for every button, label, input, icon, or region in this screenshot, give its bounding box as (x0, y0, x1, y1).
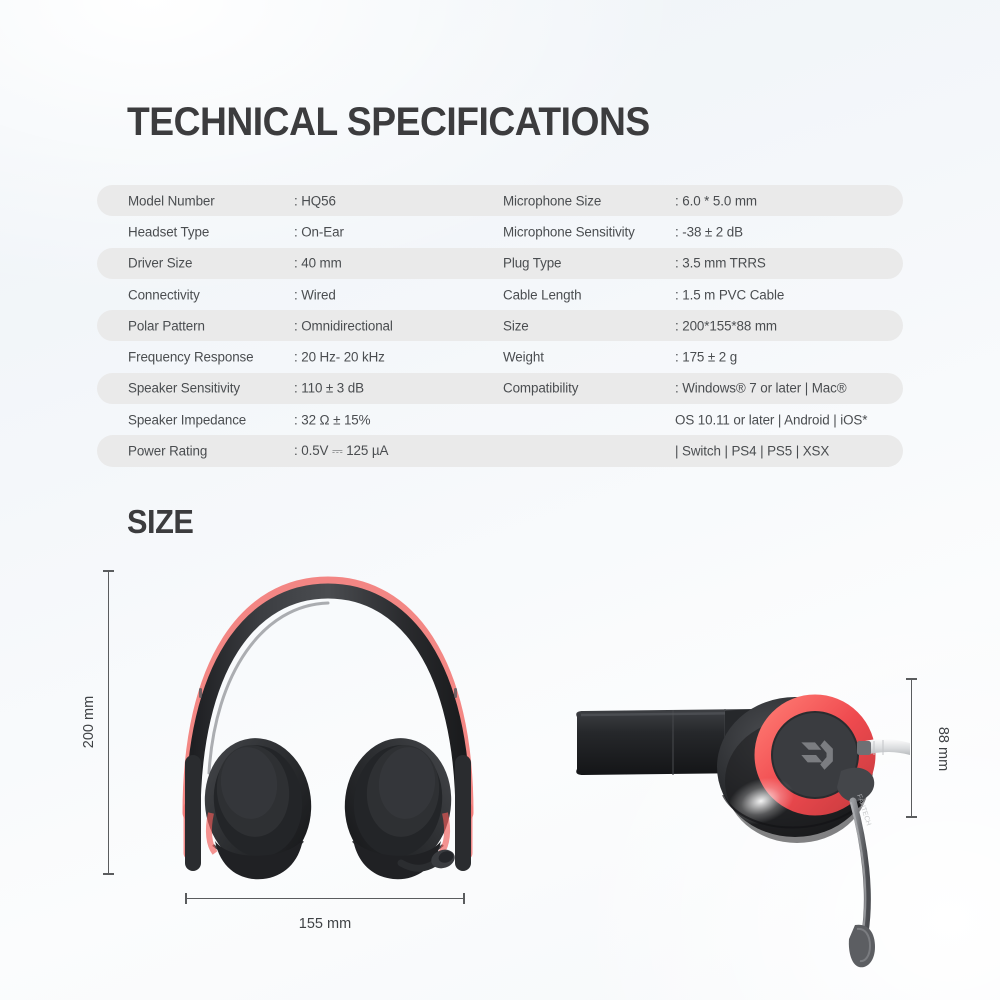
spec-left-label: Frequency Response (128, 350, 253, 365)
width-dimension-label: 155 mm (185, 916, 465, 932)
spec-left-label: Driver Size (128, 256, 192, 271)
spec-left-value: : Omnidirectional (294, 318, 393, 333)
spec-right-label: Cable Length (503, 287, 581, 302)
spec-left-value: : HQ56 (294, 193, 336, 208)
depth-dimension-label: 88 mm (935, 711, 951, 787)
table-row: Speaker Sensitivity: 110 ± 3 dBCompatibi… (97, 373, 903, 404)
spec-left-label: Headset Type (128, 224, 209, 239)
spec-right-value: : 6.0 * 5.0 mm (675, 193, 757, 208)
specifications-table: Model Number: HQ56Microphone Size: 6.0 *… (97, 185, 903, 467)
spec-right-label: Weight (503, 350, 544, 365)
height-dimension-label: 200 mm (81, 682, 97, 762)
table-row: Headset Type: On-EarMicrophone Sensitivi… (97, 216, 903, 247)
table-row: Frequency Response: 20 Hz- 20 kHzWeight:… (97, 341, 903, 372)
spec-right-value: : 200*155*88 mm (675, 318, 777, 333)
spec-right-label: Microphone Sensitivity (503, 224, 635, 239)
spec-left-value: : Wired (294, 287, 336, 302)
spec-left-value: : 20 Hz- 20 kHz (294, 350, 385, 365)
spec-left-value: : 110 ± 3 dB (294, 381, 364, 396)
headset-side-view: FANTECH (565, 655, 910, 975)
spec-right-label: Plug Type (503, 256, 561, 271)
spec-right-value: : 175 ± 2 g (675, 350, 737, 365)
spec-right-label: Microphone Size (503, 193, 601, 208)
table-row: Power Rating: 0.5V ⎓ 125 µA| Switch | PS… (97, 435, 903, 466)
spec-left-label: Connectivity (128, 287, 200, 302)
width-dimension-line (185, 898, 465, 899)
spec-left-label: Speaker Impedance (128, 412, 246, 427)
spec-left-label: Polar Pattern (128, 318, 205, 333)
spec-left-label: Speaker Sensitivity (128, 381, 240, 396)
table-row: Connectivity: WiredCable Length: 1.5 m P… (97, 279, 903, 310)
spec-left-value: : 0.5V ⎓ 125 µA (294, 443, 388, 459)
table-row: Model Number: HQ56Microphone Size: 6.0 *… (97, 185, 903, 216)
spec-left-value: : On-Ear (294, 224, 344, 239)
spec-right-value: : 3.5 mm TRRS (675, 256, 766, 271)
depth-dimension-line (911, 678, 912, 818)
spec-right-label: Compatibility (503, 381, 578, 396)
spec-left-value: : 40 mm (294, 256, 342, 271)
spec-right-value: : Windows® 7 or later | Mac® (675, 381, 846, 396)
height-dimension-line (108, 570, 109, 875)
page-title: TECHNICAL SPECIFICATIONS (127, 100, 650, 145)
spec-left-label: Model Number (128, 193, 215, 208)
spec-right-value: | Switch | PS4 | PS5 | XSX (675, 444, 829, 459)
table-row: Driver Size: 40 mmPlug Type: 3.5 mm TRRS (97, 248, 903, 279)
spec-right-value: : 1.5 m PVC Cable (675, 287, 784, 302)
spec-right-label: Size (503, 318, 529, 333)
table-row: Speaker Impedance: 32 Ω ± 15%OS 10.11 or… (97, 404, 903, 435)
size-section-title: SIZE (127, 503, 193, 541)
headset-front-view (163, 563, 493, 888)
spec-right-value: : -38 ± 2 dB (675, 224, 743, 239)
spec-left-value: : 32 Ω ± 15% (294, 412, 370, 427)
spec-right-value: OS 10.11 or later | Android | iOS* (675, 412, 867, 427)
table-row: Polar Pattern: OmnidirectionalSize: 200*… (97, 310, 903, 341)
spec-left-label: Power Rating (128, 444, 207, 459)
